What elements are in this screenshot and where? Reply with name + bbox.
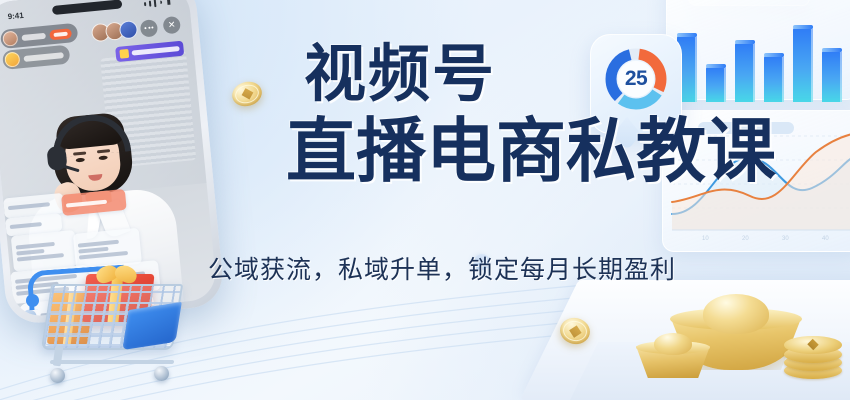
headline-block: 视频号 直播电商私教课 [286,44,756,186]
svg-text:30: 30 [782,236,789,242]
chat-text-blurred [23,52,63,62]
follow-button[interactable] [49,28,72,40]
signal-icon [153,0,156,7]
promo-banner: 1020 3040 25 9:41 [0,0,850,400]
cart-wheel [50,368,65,383]
ingot-dome [703,294,769,334]
gold-ingot-group [636,292,846,400]
x-tick-labels: 1020 3040 [702,236,829,242]
bar-6 [822,51,842,102]
battery-icon: ▮ [166,0,171,6]
subtitle: 公域获流，私域升单，锁定每月长期盈利 [142,250,742,286]
avatar [4,51,20,67]
bar-5 [793,28,813,102]
headline-line-1: 视频号 [286,44,756,106]
svg-text:40: 40 [822,236,829,242]
gold-coin-stack [784,334,846,388]
cart-handle-grip [26,294,39,307]
gift-icon [119,49,129,59]
floating-gold-coin [229,78,264,109]
status-bar-time: 9:41 [7,11,24,21]
avatar [2,30,18,46]
svg-text:20: 20 [742,236,749,242]
promo-text-blurred [132,46,180,56]
chat-text-blurred [21,32,45,40]
signal-icon [144,2,146,6]
more-icon[interactable] [140,19,159,38]
wifi-icon: ◗ [158,0,164,7]
cart-wheel [154,366,169,381]
gold-ingot-small [636,336,710,378]
signal-icon [149,0,152,6]
svg-text:10: 10 [702,236,709,242]
ingot-dome [654,333,692,355]
headline-line-2: 直播电商私教课 [286,116,756,186]
bar-4 [764,56,784,102]
avatar [119,20,139,40]
gift-bow-icon [96,264,138,282]
